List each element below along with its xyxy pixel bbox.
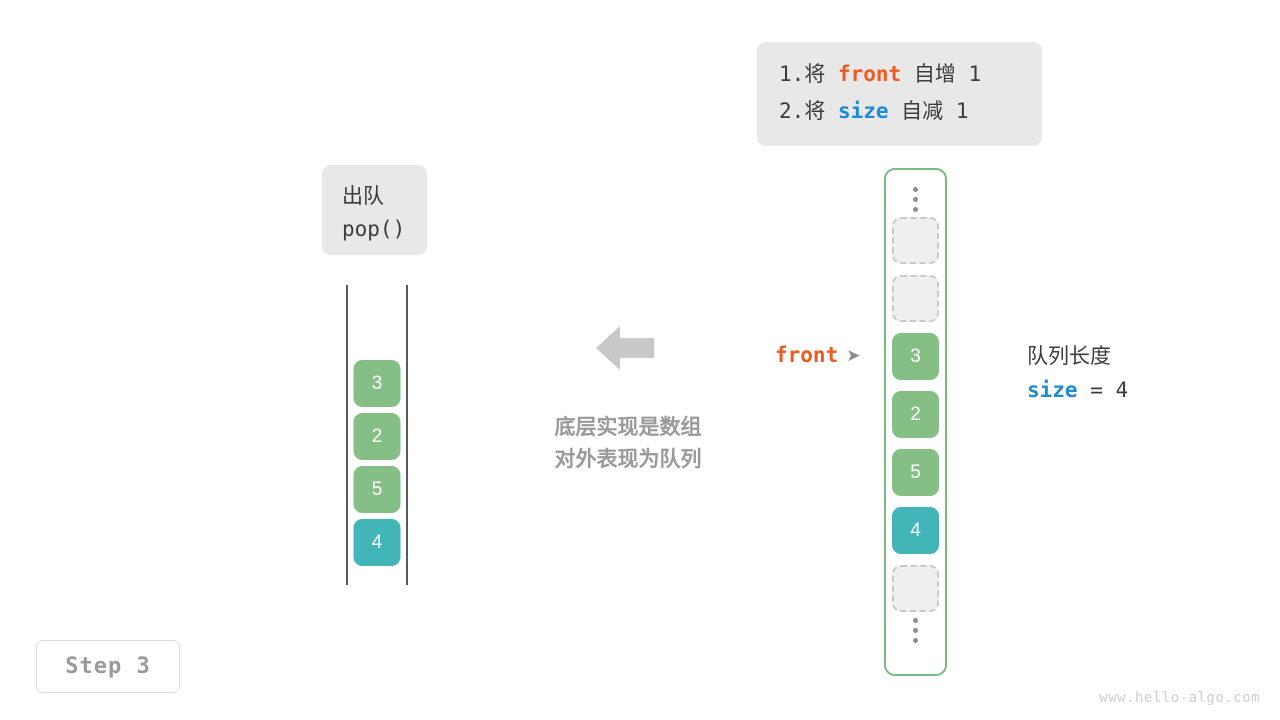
array-slot xyxy=(892,217,939,264)
implementation-caption-line-1: 底层实现是数组 xyxy=(528,412,728,444)
operation-note-line-1-index: 1. xyxy=(779,62,804,86)
pop-label-title: 出队 xyxy=(342,180,427,213)
array-slot: 2 xyxy=(892,391,939,438)
queue-rail-left xyxy=(346,285,348,585)
dot xyxy=(913,197,918,202)
dot xyxy=(913,207,918,212)
dot xyxy=(913,187,918,192)
operation-note-line-1: 1.将 front 自增 1 xyxy=(779,56,1020,93)
front-pointer-annotation: front ➤ xyxy=(775,343,860,367)
dot xyxy=(913,638,918,643)
abstract-queue-diagram: 3 2 5 4 xyxy=(346,285,408,585)
queue-size-variable: size xyxy=(1027,378,1078,402)
operation-note-line-2-suffix: 自减 1 xyxy=(889,99,969,123)
abstract-queue-cell: 3 xyxy=(354,360,401,407)
watermark: www.hello-algo.com xyxy=(1099,690,1260,706)
array-slot xyxy=(892,565,939,612)
implementation-caption: 底层实现是数组 对外表现为队列 xyxy=(528,412,728,476)
operation-note-line-2: 2.将 size 自减 1 xyxy=(779,93,1020,130)
pop-operation-label: 出队 pop() xyxy=(322,165,427,255)
operation-note-keyword-size: size xyxy=(838,99,889,123)
abstract-queue-cell: 2 xyxy=(354,413,401,460)
operation-note-line-1-suffix: 自增 1 xyxy=(901,62,981,86)
dot xyxy=(913,628,918,633)
queue-size-expression: size = 4 xyxy=(1027,373,1128,407)
array-slot: 5 xyxy=(892,449,939,496)
array-slot: 4 xyxy=(892,507,939,554)
array-slot xyxy=(892,275,939,322)
step-badge: Step 3 xyxy=(36,640,180,693)
arrow-left-icon xyxy=(596,326,654,370)
operation-note-line-1-prefix: 将 xyxy=(804,62,838,86)
array-slot: 3 xyxy=(892,333,939,380)
operation-note-line-2-prefix: 将 xyxy=(804,99,838,123)
queue-rail-right xyxy=(406,285,408,585)
operation-note-box: 1.将 front 自增 1 2.将 size 自减 1 xyxy=(757,42,1042,146)
operation-note-keyword-front: front xyxy=(838,62,901,86)
queue-size-title: 队列长度 xyxy=(1027,341,1128,373)
abstract-queue-cell: 4 xyxy=(354,519,401,566)
queue-size-annotation: 队列长度 size = 4 xyxy=(1027,341,1128,407)
underlying-array-container: 3 2 5 4 xyxy=(884,168,947,676)
abstract-queue-cell: 5 xyxy=(354,466,401,513)
operation-note-line-2-index: 2. xyxy=(779,99,804,123)
caret-right-icon: ➤ xyxy=(846,347,860,364)
pop-label-function: pop() xyxy=(342,213,427,246)
queue-size-value: 4 xyxy=(1116,378,1129,402)
vertical-dots-icon-bottom xyxy=(913,612,918,648)
queue-size-equals: = xyxy=(1078,378,1116,402)
implementation-caption-line-2: 对外表现为队列 xyxy=(528,444,728,476)
vertical-dots-icon-top xyxy=(913,181,918,217)
dot xyxy=(913,618,918,623)
array-slot-list: 3 2 5 4 xyxy=(892,217,939,612)
front-pointer-label: front xyxy=(775,343,838,367)
abstract-queue-cell-list: 3 2 5 4 xyxy=(354,360,401,566)
